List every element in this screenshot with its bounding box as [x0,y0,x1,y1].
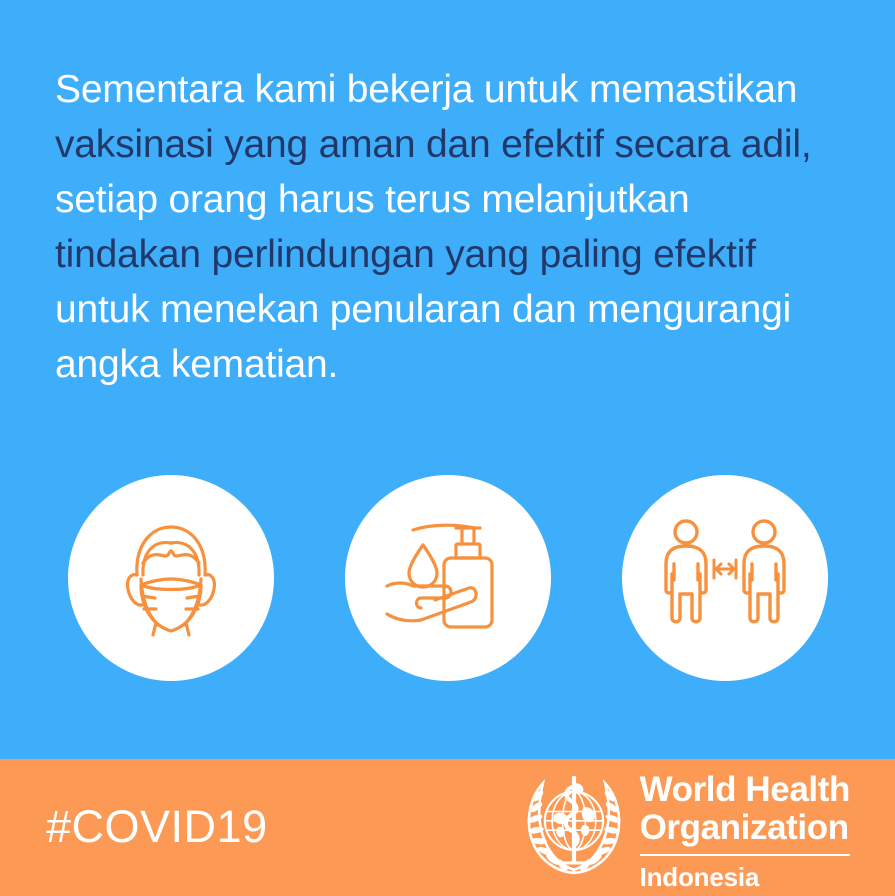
headline-line-1: Sementara kami bekerja untuk memastikan [55,62,865,117]
who-wordmark: World Health Organization Indonesia [640,771,850,891]
icon-circle-sanitizer [345,475,551,681]
who-name-line-2: Organization [640,809,850,847]
protective-measures-icon-row [68,475,828,681]
headline-line-2: vaksinasi yang aman dan efektif secara a… [55,117,865,172]
headline-line-3: setiap orang harus terus melanjutkan [55,172,865,227]
who-country-label: Indonesia [640,863,850,891]
hashtag-covid19: #COVID19 [46,803,268,851]
poster-canvas: Sementara kami bekerja untuk memastikan … [0,0,895,896]
headline-block: Sementara kami bekerja untuk memastikan … [55,62,865,392]
footer-bar: #COVID19 [0,759,895,896]
icon-circle-mask [68,475,274,681]
headline-line-5: untuk menekan penularan dan mengurangi [55,282,865,337]
hand-sanitizer-icon [383,516,513,641]
face-mask-icon [111,513,231,643]
headline-line-4: tindakan perlindungan yang paling efekti… [55,227,865,282]
who-divider-rule [640,854,850,856]
who-emblem-icon [522,773,626,877]
headline-line-6: angka kematian. [55,337,865,392]
icon-circle-distancing [622,475,828,681]
who-name-line-1: World Health [640,771,850,809]
physical-distancing-icon [660,518,790,638]
who-logo-lockup: World Health Organization Indonesia [522,771,850,887]
